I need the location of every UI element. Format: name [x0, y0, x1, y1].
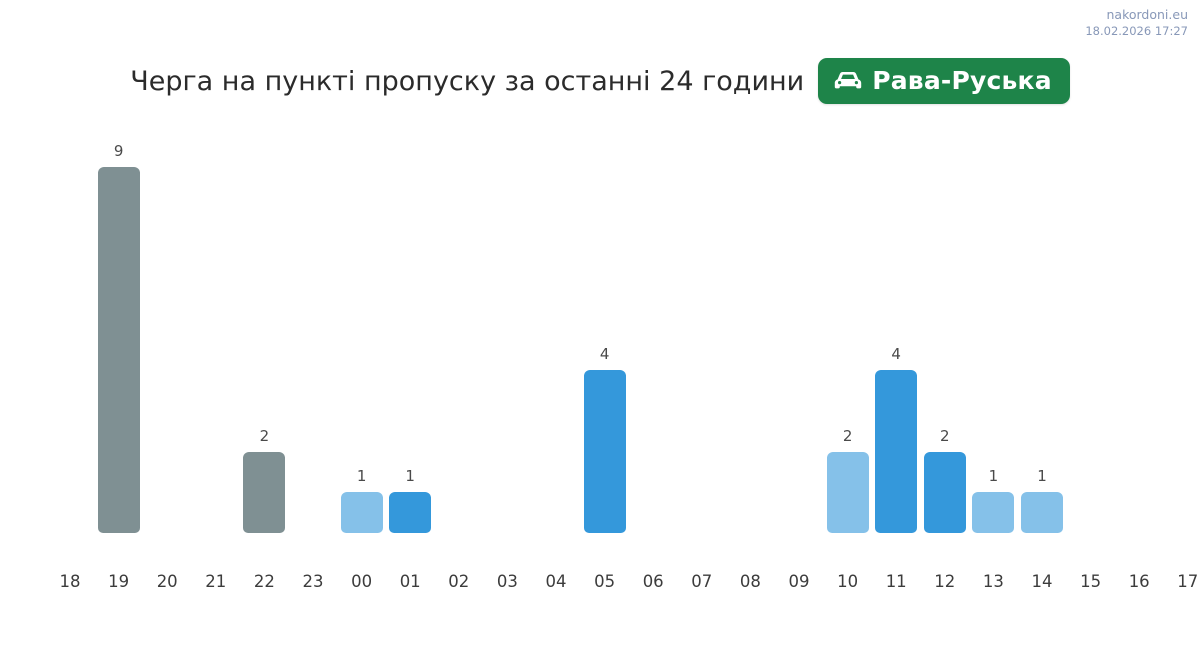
x-axis-tick-04: 04 [545, 572, 566, 591]
x-axis-tick-11: 11 [886, 572, 907, 591]
bar-slot: 114 [1018, 0, 1067, 651]
x-axis-tick-05: 05 [594, 572, 615, 591]
bar-value-label: 1 [405, 467, 415, 485]
bar-value-label: 4 [891, 345, 901, 363]
bar-slot: 20 [143, 0, 192, 651]
bar-slot: 210 [823, 0, 872, 651]
x-axis-tick-03: 03 [497, 572, 518, 591]
bar-slot: 17 [1164, 0, 1200, 651]
bar-slot: 405 [580, 0, 629, 651]
bar-slot: 222 [240, 0, 289, 651]
bar-slot: 212 [921, 0, 970, 651]
bar-slot: 03 [483, 0, 532, 651]
bar-slot: 02 [435, 0, 484, 651]
bar[interactable] [972, 492, 1014, 533]
bar-slot: 23 [289, 0, 338, 651]
bar[interactable] [98, 167, 140, 533]
x-axis-tick-16: 16 [1129, 572, 1150, 591]
x-axis-tick-18: 18 [59, 572, 80, 591]
x-axis-tick-19: 19 [108, 572, 129, 591]
x-axis-tick-10: 10 [837, 572, 858, 591]
bar-value-label: 1 [989, 467, 999, 485]
bar[interactable] [389, 492, 431, 533]
x-axis-tick-08: 08 [740, 572, 761, 591]
bar-slot: 100 [337, 0, 386, 651]
bar-slot: 919 [94, 0, 143, 651]
bar-slot: 09 [775, 0, 824, 651]
x-axis-tick-02: 02 [448, 572, 469, 591]
bar-slot: 18 [46, 0, 95, 651]
bar[interactable] [584, 370, 626, 533]
bar-value-label: 9 [114, 142, 124, 160]
bar-slot: 113 [969, 0, 1018, 651]
x-axis-tick-22: 22 [254, 572, 275, 591]
bar-value-label: 1 [1037, 467, 1047, 485]
x-axis-tick-09: 09 [788, 572, 809, 591]
x-axis-tick-23: 23 [302, 572, 323, 591]
x-axis-tick-12: 12 [934, 572, 955, 591]
bar[interactable] [1021, 492, 1063, 533]
x-axis-tick-15: 15 [1080, 572, 1101, 591]
bar-slot: 16 [1115, 0, 1164, 651]
bar-value-label: 4 [600, 345, 610, 363]
x-axis-tick-14: 14 [1031, 572, 1052, 591]
x-axis-tick-07: 07 [691, 572, 712, 591]
bar-value-label: 2 [940, 427, 950, 445]
bar-slot: 411 [872, 0, 921, 651]
x-axis-tick-13: 13 [983, 572, 1004, 591]
x-axis-tick-00: 00 [351, 572, 372, 591]
x-axis-tick-17: 17 [1177, 572, 1198, 591]
bar[interactable] [341, 492, 383, 533]
bar-slot: 06 [629, 0, 678, 651]
bar-value-label: 2 [260, 427, 270, 445]
x-axis-tick-06: 06 [643, 572, 664, 591]
bar[interactable] [827, 452, 869, 533]
bar-slot: 07 [678, 0, 727, 651]
bar[interactable] [243, 452, 285, 533]
bar[interactable] [875, 370, 917, 533]
bar-slot: 21 [192, 0, 241, 651]
bar-slot: 04 [532, 0, 581, 651]
bar-slot: 15 [1066, 0, 1115, 651]
bar-value-label: 1 [357, 467, 367, 485]
bar-chart: 1891920212222310010102030440506070809210… [0, 0, 1200, 651]
x-axis-tick-20: 20 [157, 572, 178, 591]
bar-slot: 101 [386, 0, 435, 651]
bar[interactable] [924, 452, 966, 533]
bar-value-label: 2 [843, 427, 853, 445]
x-axis-tick-21: 21 [205, 572, 226, 591]
bar-slot: 08 [726, 0, 775, 651]
x-axis-tick-01: 01 [400, 572, 421, 591]
